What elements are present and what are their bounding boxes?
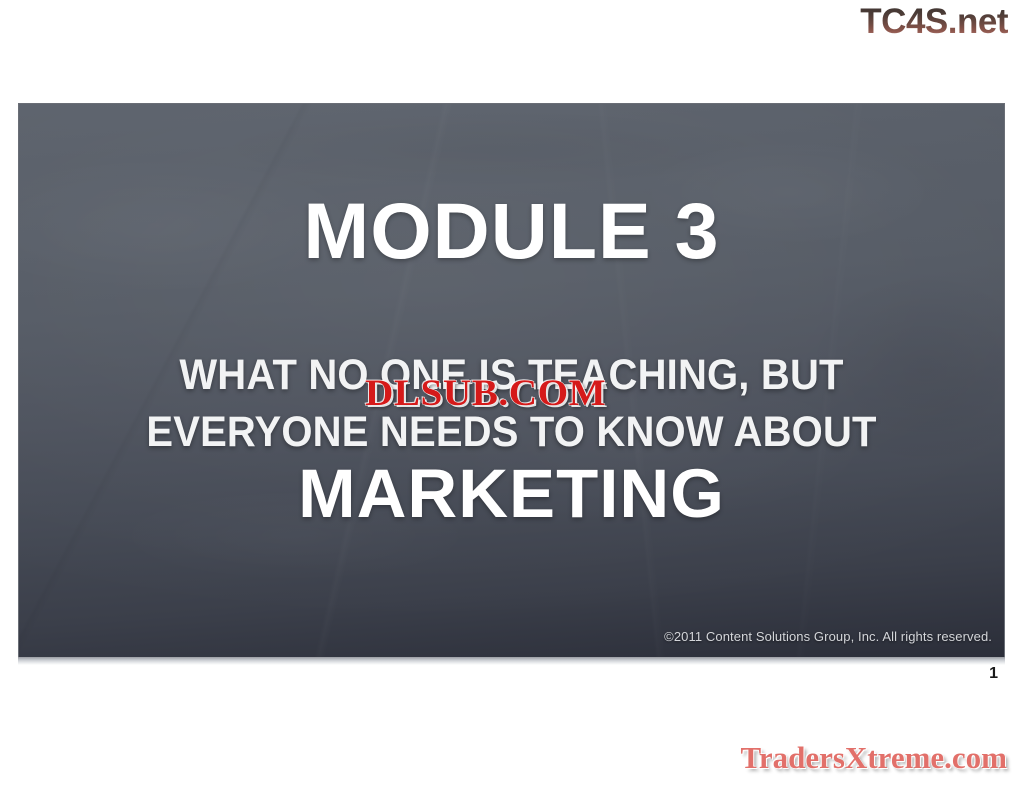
site-logo-top: TC4S.net xyxy=(860,2,1008,42)
copyright-notice: ©2011 Content Solutions Group, Inc. All … xyxy=(664,629,992,645)
watermark-overlay: DLSUB.COM xyxy=(365,374,606,414)
slide-bottom-shadow xyxy=(18,657,1005,665)
page-number: 1 xyxy=(989,664,998,684)
site-logo-bottom: TradersXtreme.com xyxy=(740,740,1007,776)
slide-topic: MARKETING xyxy=(19,456,1004,532)
slide-headline: MODULE 3 xyxy=(19,188,1004,274)
